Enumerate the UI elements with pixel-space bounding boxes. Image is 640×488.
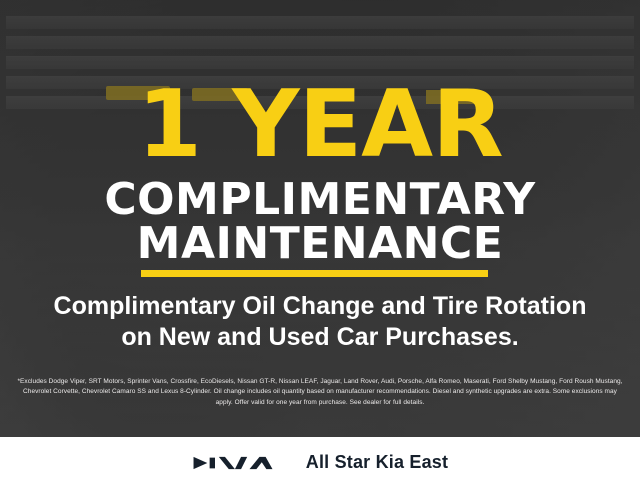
headline-group: 1 YEAR COMPLIMENTARY MAINTENANCE Complim…: [0, 0, 640, 437]
subhead-line-2: on New and Used Car Purchases.: [0, 322, 640, 352]
headline-secondary-line-2: MAINTENANCE: [0, 221, 640, 267]
headline-primary: 1 YEAR: [0, 78, 640, 171]
kia-logo-icon: [192, 451, 284, 475]
yellow-divider-rule: [141, 270, 488, 277]
promo-banner: 1 YEAR COMPLIMENTARY MAINTENANCE Complim…: [0, 0, 640, 488]
subhead-line-1: Complimentary Oil Change and Tire Rotati…: [0, 291, 640, 321]
dealer-name: All Star Kia East: [306, 452, 448, 473]
headline-secondary-line-1: COMPLIMENTARY: [0, 177, 640, 223]
footer-brand-bar: All Star Kia East: [0, 437, 640, 488]
disclaimer-text: *Excludes Dodge Viper, SRT Motors, Sprin…: [16, 377, 624, 408]
